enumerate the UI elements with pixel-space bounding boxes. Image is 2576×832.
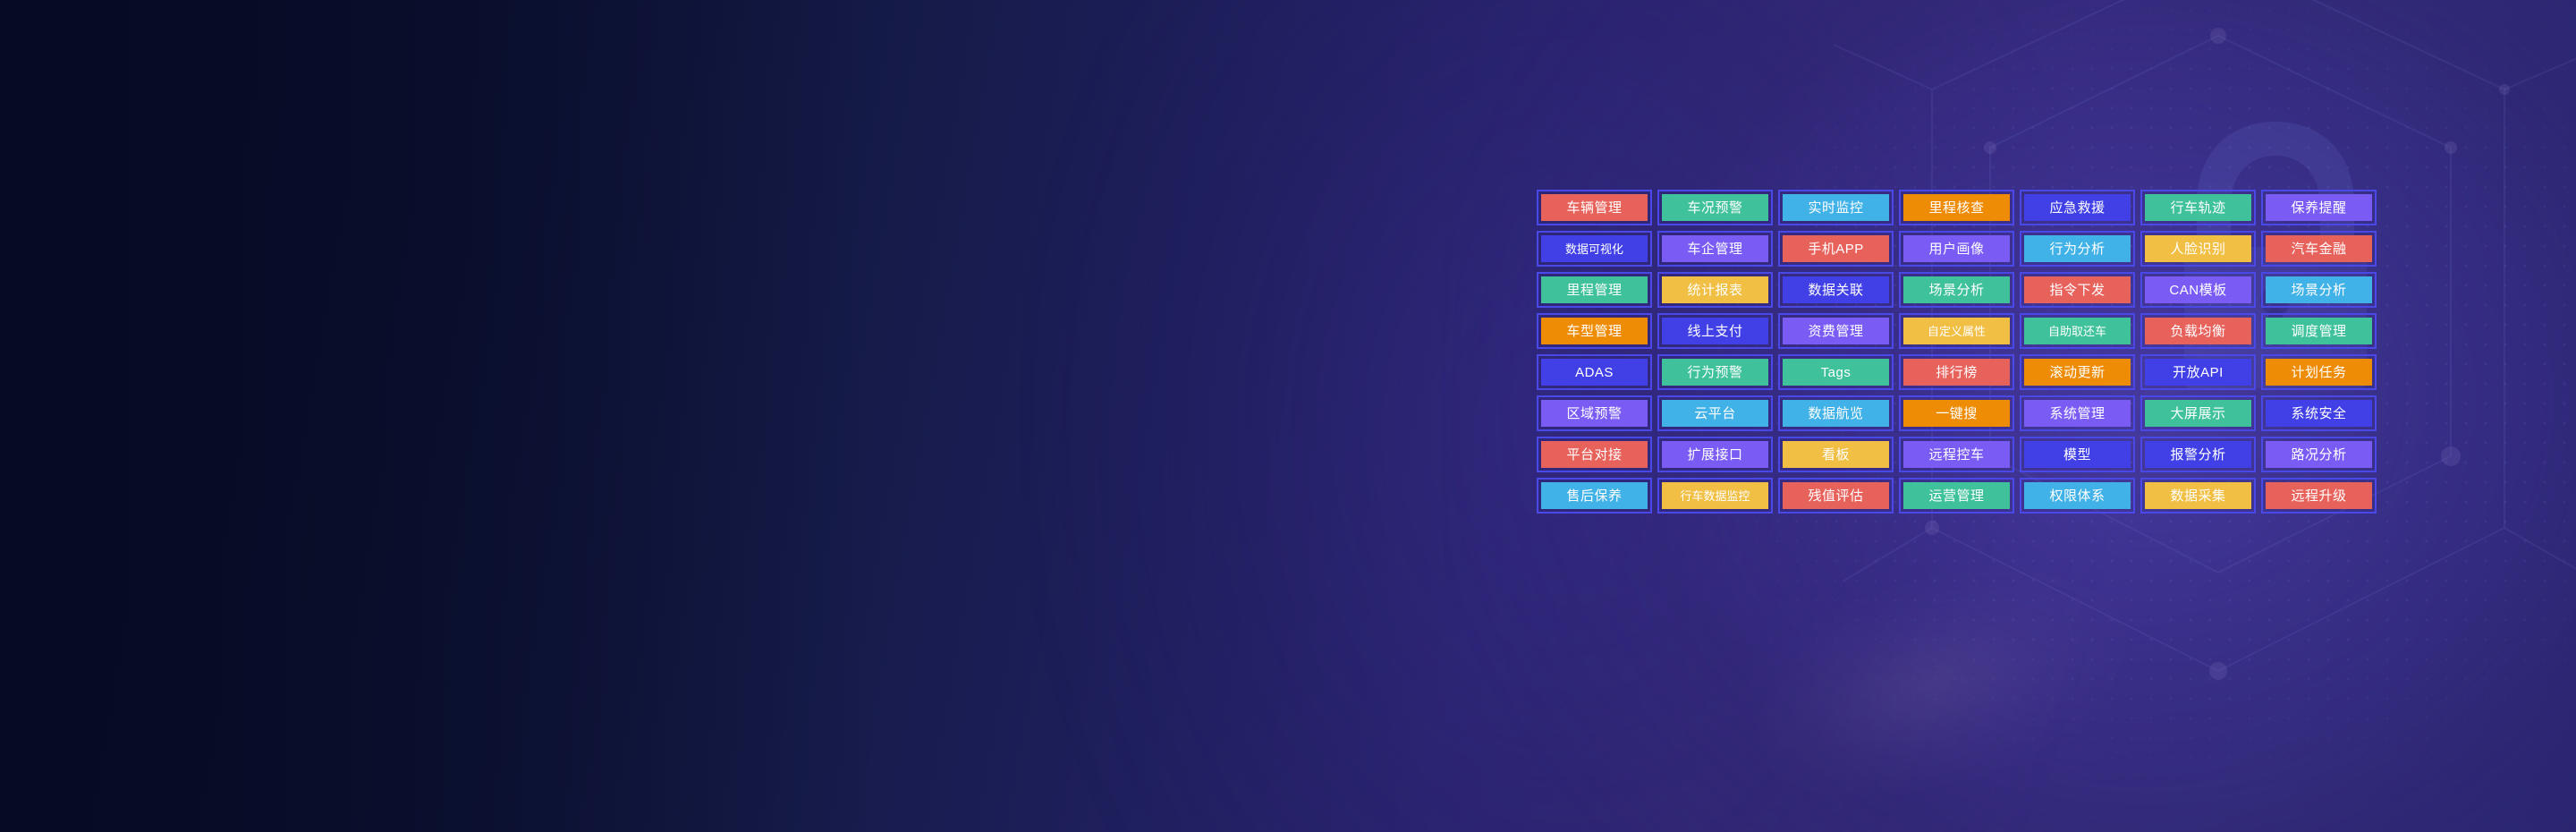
tag-item[interactable]: 云平台 (1657, 395, 1773, 431)
tag-label: 排行榜 (1903, 359, 2010, 386)
tag-item[interactable]: 调度管理 (2261, 313, 2377, 349)
tag-item[interactable]: 报警分析 (2140, 437, 2256, 472)
tag-item[interactable]: 数据可视化 (1537, 231, 1652, 267)
tag-item[interactable]: 远程控车 (1899, 437, 2014, 472)
page-root: 车辆管理车况预警实时监控里程核查应急救援行车轨迹保养提醒数据可视化车企管理手机A… (0, 0, 2576, 832)
tag-row: 车型管理线上支付资费管理自定义属性自助取还车负载均衡调度管理 (1537, 313, 2377, 349)
tag-label: 滚动更新 (2024, 359, 2131, 386)
tag-label: 行车数据监控 (1662, 482, 1768, 509)
tag-label: 行车轨迹 (2145, 194, 2251, 221)
tag-item[interactable]: 平台对接 (1537, 437, 1652, 472)
tag-item[interactable]: Tags (1778, 354, 1894, 390)
tag-item[interactable]: 残值评估 (1778, 478, 1894, 514)
tag-label: 区域预警 (1541, 400, 1648, 427)
tag-item[interactable]: CAN模板 (2140, 272, 2256, 308)
tag-item[interactable]: 计划任务 (2261, 354, 2377, 390)
tag-item[interactable]: 线上支付 (1657, 313, 1773, 349)
tag-label: 运营管理 (1903, 482, 2010, 509)
tag-label: 负载均衡 (2145, 318, 2251, 344)
tag-item[interactable]: 资费管理 (1778, 313, 1894, 349)
tag-item[interactable]: 远程升级 (2261, 478, 2377, 514)
tag-item[interactable]: 车况预警 (1657, 190, 1773, 225)
tag-label: 车型管理 (1541, 318, 1648, 344)
tag-item[interactable]: 数据航览 (1778, 395, 1894, 431)
tag-label: 计划任务 (2266, 359, 2372, 386)
tag-label: 系统管理 (2024, 400, 2131, 427)
tag-item[interactable]: 系统管理 (2020, 395, 2135, 431)
tag-label: 自定义属性 (1903, 318, 2010, 344)
capability-tag-grid: 车辆管理车况预警实时监控里程核查应急救援行车轨迹保养提醒数据可视化车企管理手机A… (1537, 190, 2377, 514)
tag-label: ADAS (1541, 359, 1648, 386)
tag-item[interactable]: 滚动更新 (2020, 354, 2135, 390)
tag-label: 场景分析 (1903, 276, 2010, 303)
tag-item[interactable]: 指令下发 (2020, 272, 2135, 308)
tag-label: 实时监控 (1783, 194, 1889, 221)
tag-label: 看板 (1783, 441, 1889, 468)
tag-label: 手机APP (1783, 235, 1889, 262)
tag-item[interactable]: 扩展接口 (1657, 437, 1773, 472)
tag-label: 自助取还车 (2024, 318, 2131, 344)
tag-label: 资费管理 (1783, 318, 1889, 344)
tag-label: 数据关联 (1783, 276, 1889, 303)
tag-item[interactable]: 看板 (1778, 437, 1894, 472)
tag-label: 人脸识别 (2145, 235, 2251, 262)
tag-item[interactable]: 开放API (2140, 354, 2256, 390)
tag-label: 路况分析 (2266, 441, 2372, 468)
tag-item[interactable]: 运营管理 (1899, 478, 2014, 514)
tag-item[interactable]: ADAS (1537, 354, 1652, 390)
tag-item[interactable]: 数据采集 (2140, 478, 2256, 514)
tag-item[interactable]: 车辆管理 (1537, 190, 1652, 225)
tag-label: 行为预警 (1662, 359, 1768, 386)
tag-item[interactable]: 区域预警 (1537, 395, 1652, 431)
tag-item[interactable]: 人脸识别 (2140, 231, 2256, 267)
tag-label: 售后保养 (1541, 482, 1648, 509)
tag-label: 汽车金融 (2266, 235, 2372, 262)
tag-item[interactable]: 应急救援 (2020, 190, 2135, 225)
tag-label: 大屏展示 (2145, 400, 2251, 427)
tag-item[interactable]: 数据关联 (1778, 272, 1894, 308)
tag-label: 扩展接口 (1662, 441, 1768, 468)
tag-item[interactable]: 手机APP (1778, 231, 1894, 267)
tag-label: 里程核查 (1903, 194, 2010, 221)
tag-label: CAN模板 (2145, 276, 2251, 303)
tag-item[interactable]: 行车轨迹 (2140, 190, 2256, 225)
tag-label: 远程控车 (1903, 441, 2010, 468)
tag-label: 用户画像 (1903, 235, 2010, 262)
tag-label: 车企管理 (1662, 235, 1768, 262)
tag-item[interactable]: 行为预警 (1657, 354, 1773, 390)
tag-label: 平台对接 (1541, 441, 1648, 468)
tag-row: 数据可视化车企管理手机APP用户画像行为分析人脸识别汽车金融 (1537, 231, 2377, 267)
tag-row: 售后保养行车数据监控残值评估运营管理权限体系数据采集远程升级 (1537, 478, 2377, 514)
tag-row: 里程管理统计报表数据关联场景分析指令下发CAN模板场景分析 (1537, 272, 2377, 308)
tag-label: 指令下发 (2024, 276, 2131, 303)
tag-item[interactable]: 行为分析 (2020, 231, 2135, 267)
tag-label: 远程升级 (2266, 482, 2372, 509)
tag-item[interactable]: 里程管理 (1537, 272, 1652, 308)
tag-label: 报警分析 (2145, 441, 2251, 468)
tag-row: 车辆管理车况预警实时监控里程核查应急救援行车轨迹保养提醒 (1537, 190, 2377, 225)
tag-item[interactable]: 模型 (2020, 437, 2135, 472)
tag-label: 调度管理 (2266, 318, 2372, 344)
tag-label: 云平台 (1662, 400, 1768, 427)
tag-item[interactable]: 排行榜 (1899, 354, 2014, 390)
tag-label: 里程管理 (1541, 276, 1648, 303)
tag-row: 区域预警云平台数据航览一键搜系统管理大屏展示系统安全 (1537, 395, 2377, 431)
tag-label: 权限体系 (2024, 482, 2131, 509)
tag-item[interactable]: 汽车金融 (2261, 231, 2377, 267)
tag-item[interactable]: 车企管理 (1657, 231, 1773, 267)
tag-item[interactable]: 场景分析 (1899, 272, 2014, 308)
tag-item[interactable]: 统计报表 (1657, 272, 1773, 308)
tag-label: 开放API (2145, 359, 2251, 386)
tag-label: 数据航览 (1783, 400, 1889, 427)
tag-item[interactable]: 负载均衡 (2140, 313, 2256, 349)
tag-item[interactable]: 大屏展示 (2140, 395, 2256, 431)
tag-label: 数据采集 (2145, 482, 2251, 509)
tag-item[interactable]: 保养提醒 (2261, 190, 2377, 225)
tag-item[interactable]: 系统安全 (2261, 395, 2377, 431)
tag-label: 一键搜 (1903, 400, 2010, 427)
tag-item[interactable]: 场景分析 (2261, 272, 2377, 308)
tag-label: 场景分析 (2266, 276, 2372, 303)
tag-label: Tags (1783, 359, 1889, 386)
tag-row: ADAS行为预警Tags排行榜滚动更新开放API计划任务 (1537, 354, 2377, 390)
tag-label: 保养提醒 (2266, 194, 2372, 221)
tag-item[interactable]: 行车数据监控 (1657, 478, 1773, 514)
tag-label: 模型 (2024, 441, 2131, 468)
tag-label: 车况预警 (1662, 194, 1768, 221)
tag-item[interactable]: 权限体系 (2020, 478, 2135, 514)
tag-label: 行为分析 (2024, 235, 2131, 262)
tag-label: 统计报表 (1662, 276, 1768, 303)
tag-item[interactable]: 实时监控 (1778, 190, 1894, 225)
tag-label: 应急救援 (2024, 194, 2131, 221)
tag-label: 残值评估 (1783, 482, 1889, 509)
tag-label: 车辆管理 (1541, 194, 1648, 221)
tag-label: 系统安全 (2266, 400, 2372, 427)
tag-item[interactable]: 车型管理 (1537, 313, 1652, 349)
tag-item[interactable]: 用户画像 (1899, 231, 2014, 267)
tag-item[interactable]: 一键搜 (1899, 395, 2014, 431)
tag-item[interactable]: 自定义属性 (1899, 313, 2014, 349)
tag-item[interactable]: 里程核查 (1899, 190, 2014, 225)
tag-item[interactable]: 自助取还车 (2020, 313, 2135, 349)
tag-row: 平台对接扩展接口看板远程控车模型报警分析路况分析 (1537, 437, 2377, 472)
tag-label: 数据可视化 (1541, 235, 1648, 262)
tag-item[interactable]: 路况分析 (2261, 437, 2377, 472)
tag-item[interactable]: 售后保养 (1537, 478, 1652, 514)
tag-label: 线上支付 (1662, 318, 1768, 344)
